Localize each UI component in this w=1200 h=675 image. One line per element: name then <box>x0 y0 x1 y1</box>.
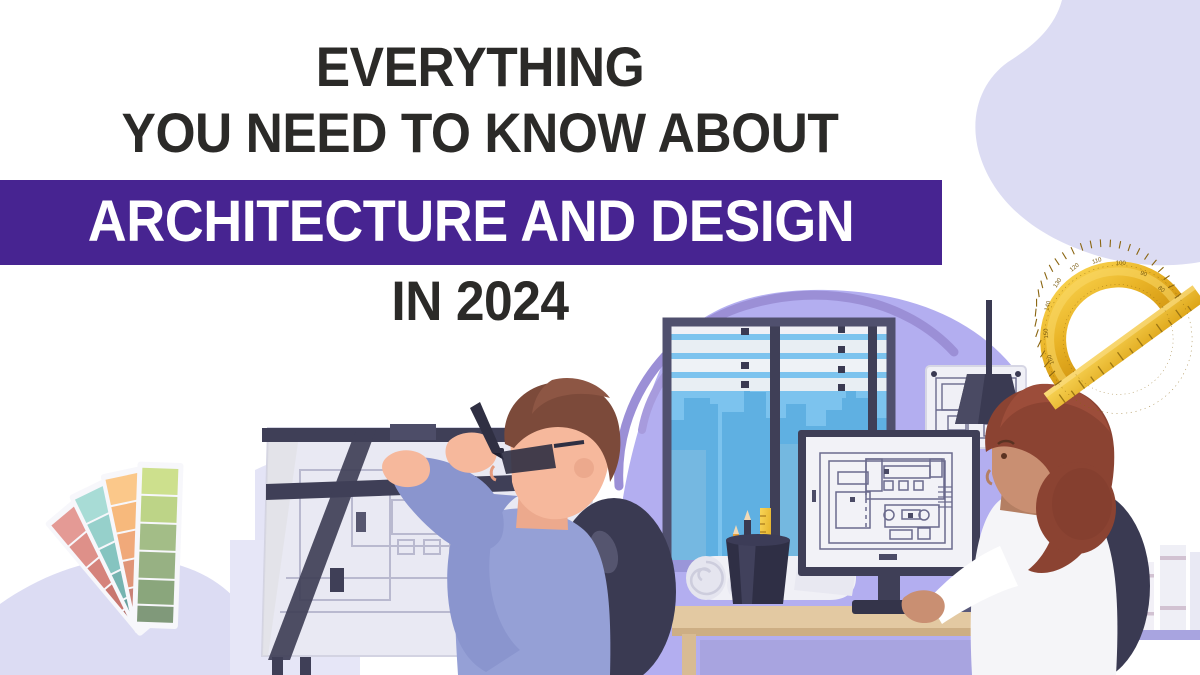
parallel-rule-clip <box>390 424 436 440</box>
frame-screw-left <box>931 371 937 377</box>
svg-text:100: 100 <box>1116 261 1127 267</box>
male-ear <box>574 458 594 478</box>
board-mark <box>356 512 366 532</box>
window-mullion-center <box>770 318 780 570</box>
illustration-artwork: 160 150 140 130 120 110 100 90 80 <box>0 0 1200 675</box>
poster-canvas: 160 150 140 130 120 110 100 90 80 EVERYT… <box>0 0 1200 675</box>
monitor-stand-neck <box>878 576 900 604</box>
svg-text:150: 150 <box>1043 328 1050 339</box>
cup-body <box>726 540 790 604</box>
swatch-fan-green <box>132 462 184 630</box>
frame-screw-right <box>1015 371 1021 377</box>
female-eye <box>1001 453 1007 459</box>
